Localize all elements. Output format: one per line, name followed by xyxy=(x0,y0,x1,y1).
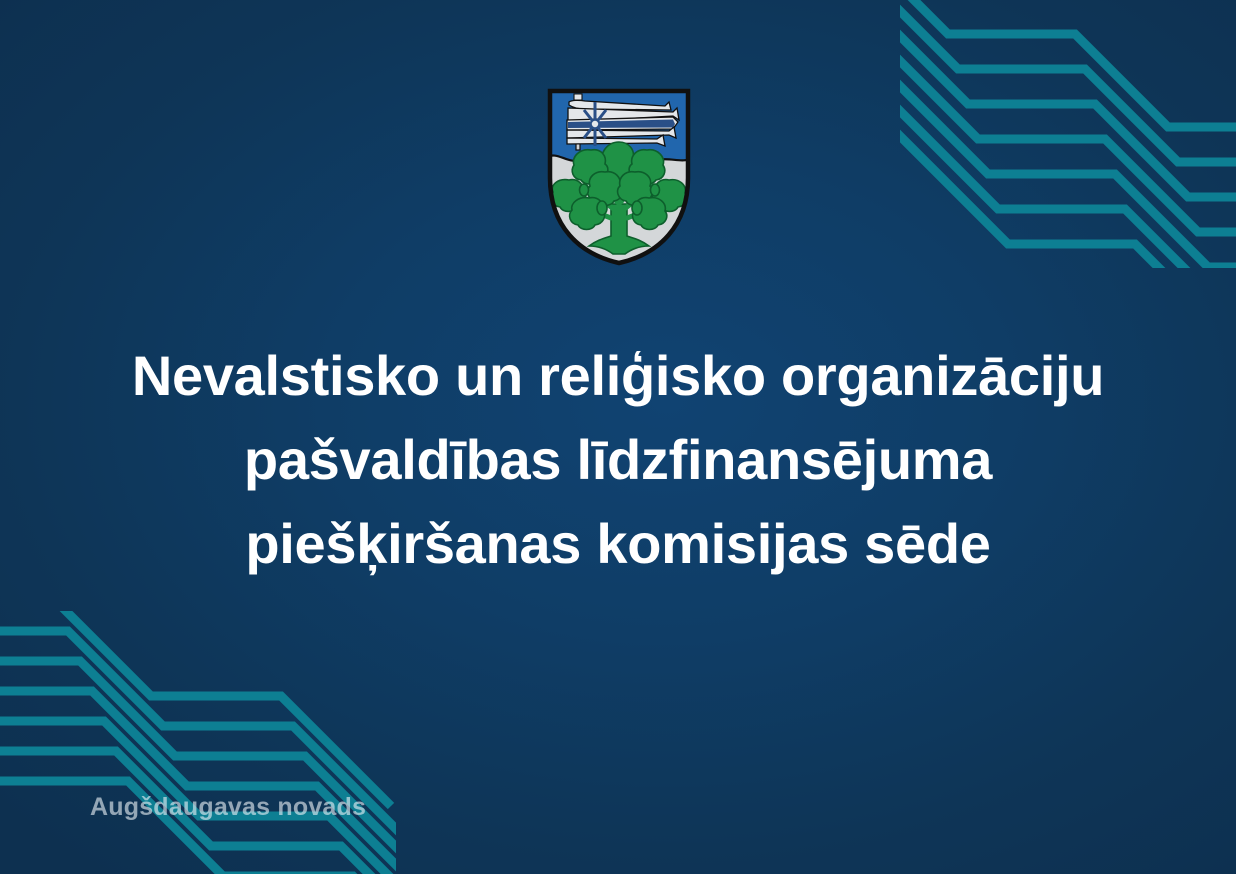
title-line-3: piešķiršanas komisijas sēde xyxy=(0,502,1236,586)
title-line-2: pašvaldības līdzfinansējuma xyxy=(0,418,1236,502)
slide-canvas: Nevalstisko un reliģisko organizāciju pa… xyxy=(0,0,1236,874)
zigzag-ornament-top-right xyxy=(900,0,1236,268)
watermark-label: Augšdaugavas novads xyxy=(90,793,366,822)
title-line-1: Nevalstisko un reliģisko organizāciju xyxy=(0,334,1236,418)
coat-of-arms-emblem xyxy=(545,86,693,268)
page-title: Nevalstisko un reliģisko organizāciju pa… xyxy=(0,334,1236,586)
zigzag-ornament-bottom-left xyxy=(0,611,396,874)
